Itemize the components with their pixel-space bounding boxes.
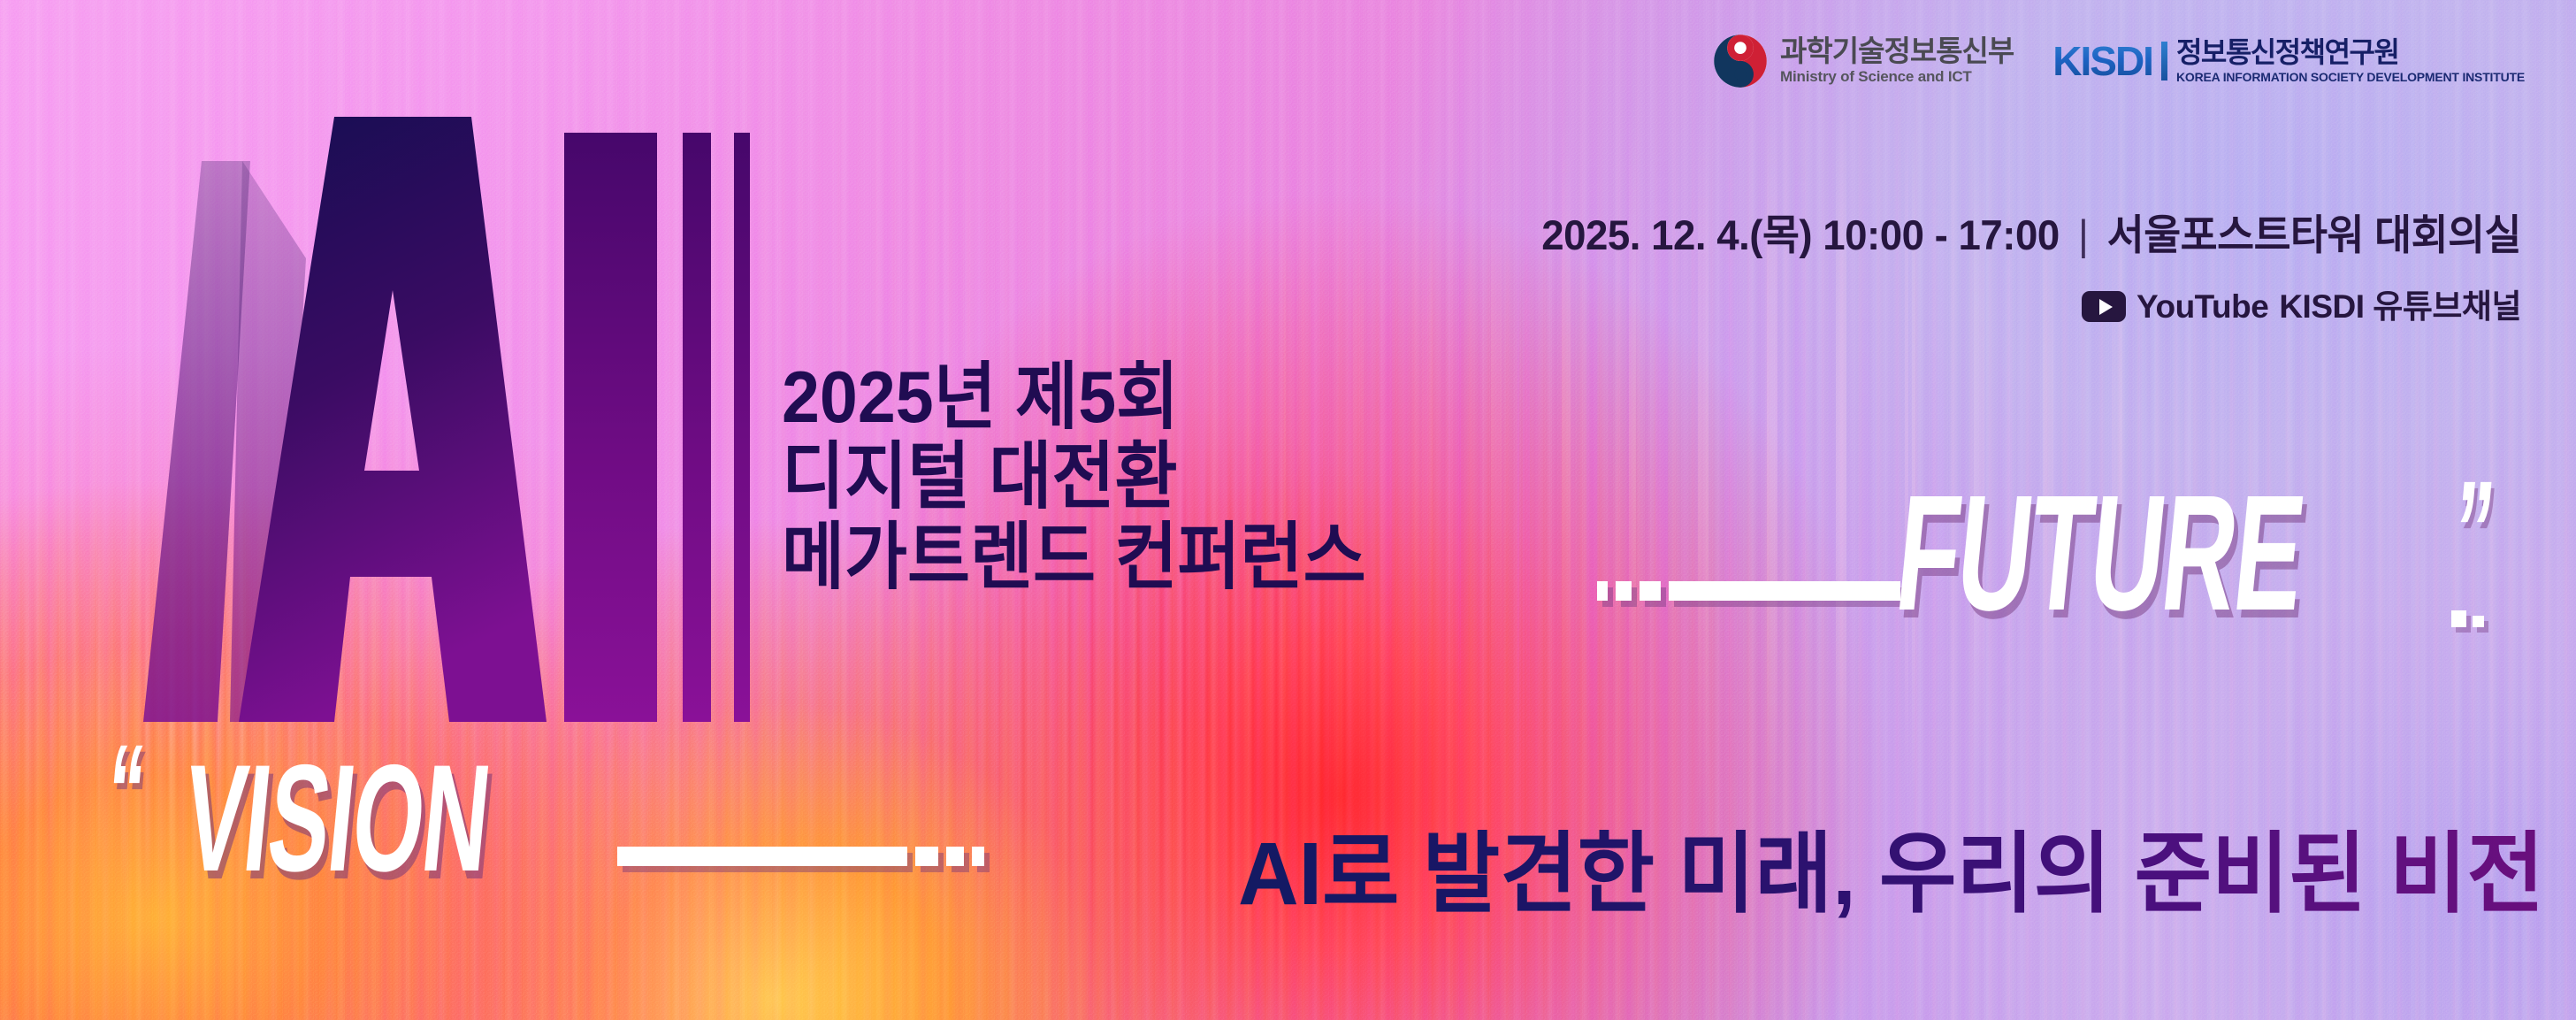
conference-banner: “ VISION FUTURE ” 2025년 제5회 디지털 대전환 메가트렌… xyxy=(0,0,2576,1020)
vision-word: VISION xyxy=(180,758,494,880)
vision-rule-dash-2 xyxy=(946,847,964,866)
future-dot-1 xyxy=(2451,610,2466,627)
kisdi-divider-bar xyxy=(2161,42,2167,81)
vision-rule-dash-3 xyxy=(972,847,984,866)
youtube-play-icon xyxy=(2082,291,2126,322)
title-line-1: 2025년 제5회 xyxy=(782,357,1366,437)
ai-monogram xyxy=(69,117,794,722)
future-rule-dash-1 xyxy=(1640,581,1661,601)
event-date: 2025. 12. 4.(목) 10:00 - 17:00 xyxy=(1541,214,2059,256)
title-line-3: 메가트렌드 컨퍼런스 xyxy=(782,518,1366,597)
kisdi-english-name: KOREA INFORMATION SOCIETY DEVELOPMENT IN… xyxy=(2176,71,2525,84)
event-venue: 서울포스트타워 대회의실 xyxy=(2107,214,2521,256)
future-dot-2 xyxy=(2473,616,2484,627)
kisdi-korean-name: 정보통신정책연구원 xyxy=(2176,38,2525,68)
future-rule-dash-2 xyxy=(1616,581,1632,601)
youtube-channel: KISDI 유튜브채널 xyxy=(2279,290,2521,323)
vision-rule-dash-1 xyxy=(915,847,938,866)
msit-korean-name: 과학기술정보통신부 xyxy=(1780,36,2014,67)
msit-logo-text: 과학기술정보통신부 Ministry of Science and ICT xyxy=(1780,36,2014,85)
future-rule-long xyxy=(1669,581,1900,601)
future-wordmark: FUTURE ” xyxy=(1597,488,2521,620)
kisdi-logo-text: 정보통신정책연구원 KOREA INFORMATION SOCIETY DEVE… xyxy=(2176,38,2525,84)
conference-title: 2025년 제5회 디지털 대전환 메가트렌드 컨퍼런스 xyxy=(782,357,1410,597)
ai-letter-i-bars xyxy=(564,133,750,722)
future-rule-dash-3 xyxy=(1597,581,1608,601)
conference-tagline: AI로 발견한 미래, 우리의 준비된 비전 xyxy=(1238,830,2544,918)
future-close-quote: ” xyxy=(2450,488,2496,573)
taeguk-icon xyxy=(1713,34,1768,88)
kisdi-wordmark: KISDI xyxy=(2052,41,2152,81)
future-underline xyxy=(1597,581,1900,601)
vision-underline xyxy=(617,847,984,866)
logo-row: 과학기술정보통신부 Ministry of Science and ICT KI… xyxy=(1713,34,2525,88)
future-trailing-dots xyxy=(2451,610,2484,627)
msit-english-name: Ministry of Science and ICT xyxy=(1780,69,2014,86)
vision-rule-long xyxy=(617,847,907,866)
event-datetime-venue: 2025. 12. 4.(목) 10:00 - 17:00 | 서울포스트타워 … xyxy=(1541,214,2521,256)
title-line-2: 디지털 대전환 xyxy=(782,437,1366,517)
info-separator: | xyxy=(2076,214,2090,256)
youtube-broadcast-info[interactable]: YouTube KISDI 유튜브채널 xyxy=(2082,290,2521,323)
youtube-label: YouTube xyxy=(2136,290,2268,323)
future-word: FUTURE xyxy=(1892,488,2308,620)
vision-wordmark: “ VISION xyxy=(104,751,984,880)
kisdi-logo: KISDI 정보통신정책연구원 KOREA INFORMATION SOCIET… xyxy=(2052,38,2525,84)
msit-logo: 과학기술정보통신부 Ministry of Science and ICT xyxy=(1713,34,2014,88)
vision-open-quote: “ xyxy=(104,751,148,831)
